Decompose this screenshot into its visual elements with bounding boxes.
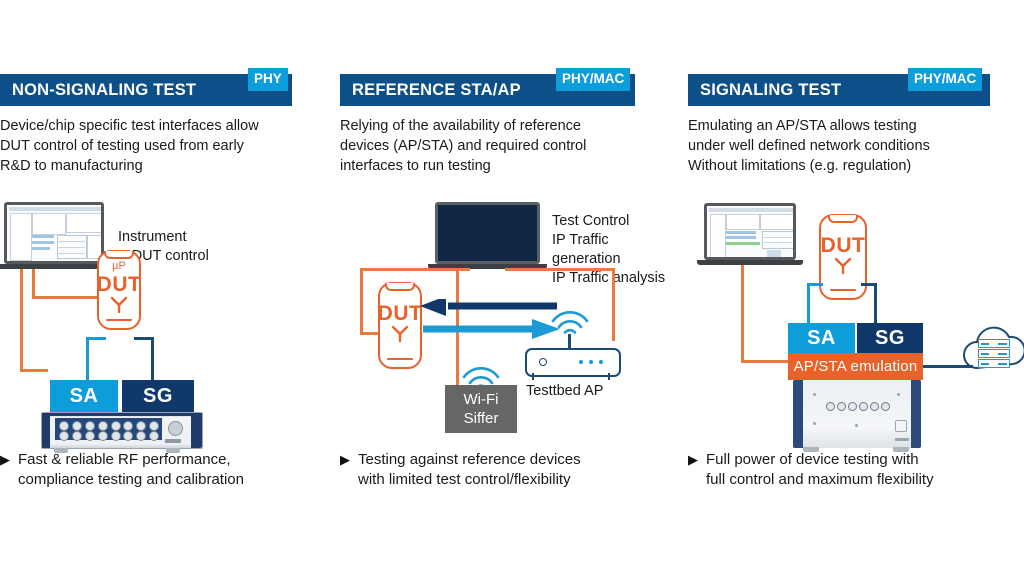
column-3-bullet-text: Full power of device testing with full c… xyxy=(706,450,934,490)
cable-phone-to-sg-vertical xyxy=(151,337,154,382)
laptop-screen xyxy=(704,203,796,260)
cable-laptop-to-emulation-vertical xyxy=(741,265,744,363)
cable-phone-to-sa-vertical xyxy=(807,283,810,325)
cable-phone-to-sg-horizontal xyxy=(861,283,876,286)
column-3-bullet: ▶ Full power of device testing with full… xyxy=(688,450,1018,490)
block-ap-sta-emulation: AP/STA emulation xyxy=(788,353,923,380)
traffic-arrows xyxy=(420,299,560,347)
laptop-base xyxy=(697,260,803,265)
column-3-description: Emulating an AP/STA allows testing under… xyxy=(688,116,998,176)
signaling-tester-chassis xyxy=(793,380,921,448)
router-led-3 xyxy=(599,360,603,364)
cable-laptop-to-ap-vertical xyxy=(612,268,615,341)
block-signal-analyzer: SA xyxy=(788,323,855,353)
cable-laptop-to-dut-vertical xyxy=(360,268,363,334)
dut-phone: DUT xyxy=(378,282,422,369)
router-led-2 xyxy=(589,360,593,364)
chassis-indicator xyxy=(895,438,909,441)
instrument-knob xyxy=(168,421,183,436)
dut-label: DUT xyxy=(821,235,866,256)
column-1-bullet-text: Fast & reliable RF performance, complian… xyxy=(18,450,244,490)
router-led-1 xyxy=(579,360,583,364)
cable-phone-to-sa-horizontal xyxy=(807,283,823,286)
column-2-description: Relying of the availability of reference… xyxy=(340,116,650,176)
column-2-diagram: Test Control IP Traffic generation IP Tr… xyxy=(340,195,676,445)
block-signal-analyzer: SA xyxy=(50,380,118,412)
block-emulation-label: AP/STA emulation xyxy=(794,358,918,375)
antenna-icon xyxy=(390,325,410,348)
chassis-body xyxy=(793,380,921,448)
cable-laptop-to-emulation-horizontal xyxy=(741,360,789,363)
block-signal-generator: SG xyxy=(857,323,923,353)
cable-laptop-to-dut-top xyxy=(360,268,470,271)
bullet-arrow-icon: ▶ xyxy=(688,450,698,470)
cable-laptop-to-phone-vertical xyxy=(32,265,35,299)
chassis-side-left xyxy=(793,380,803,448)
phone-notch xyxy=(104,251,134,259)
laptop-screen xyxy=(4,202,104,264)
phone-notch xyxy=(385,283,415,291)
laptop-test-control xyxy=(435,202,540,269)
bullet-arrow-icon: ▶ xyxy=(0,450,10,470)
laptop-screen-content xyxy=(7,205,101,261)
column-non-signaling: NON-SIGNALING TEST PHY Device/chip speci… xyxy=(0,0,330,576)
phone-home-indicator xyxy=(106,319,132,321)
column-3-badge: PHY/MAC xyxy=(908,68,982,91)
column-3-title: SIGNALING TEST xyxy=(688,81,841,100)
instrument-indicator xyxy=(165,439,181,443)
block-sa-label: SA xyxy=(70,385,99,408)
laptop-base xyxy=(0,264,111,269)
microprocessor-label: µP xyxy=(112,261,126,272)
wifi-sniffer-box: Wi-Fi Siffer xyxy=(445,385,517,433)
cable-laptop-to-phone-horizontal xyxy=(32,296,99,299)
bullet-arrow-icon: ▶ xyxy=(340,450,350,470)
instrument-right-band xyxy=(191,413,202,448)
block-signal-generator: SG xyxy=(122,380,194,412)
column-3-diagram: DUT SA SG xyxy=(688,195,1024,445)
wifi-signal-icon-sniffer xyxy=(460,355,502,389)
block-sa-label: SA xyxy=(807,327,836,350)
column-2-bullet-text: Testing against reference devices with l… xyxy=(358,450,581,490)
cable-phone-to-sg-vertical xyxy=(874,283,877,325)
instrument-body xyxy=(41,412,203,449)
laptop-instrument-control xyxy=(4,202,104,269)
cable-phone-to-sa-horizontal xyxy=(86,337,106,340)
column-1-badge: PHY xyxy=(248,68,288,91)
column-reference-sta-ap: REFERENCE STA/AP PHY/MAC Relying of the … xyxy=(340,0,670,576)
antenna-icon xyxy=(833,257,853,280)
column-signaling: SIGNALING TEST PHY/MAC Emulating an AP/S… xyxy=(688,0,1024,576)
phone-notch xyxy=(828,215,858,223)
dut-phone: DUT xyxy=(819,214,867,300)
column-1-diagram: Instrument & DUT control µP DUT xyxy=(0,195,336,445)
block-sg-label: SG xyxy=(143,385,173,408)
cable-phone-to-sa-vertical xyxy=(86,337,89,382)
slide-root: NON-SIGNALING TEST PHY Device/chip speci… xyxy=(0,0,1024,576)
block-sg-label: SG xyxy=(875,327,905,350)
laptop-screen xyxy=(435,202,540,264)
laptop-screen-content xyxy=(707,206,793,257)
column-1-title: NON-SIGNALING TEST xyxy=(0,81,196,100)
column-2-badge: PHY/MAC xyxy=(556,68,630,91)
column-1-bullet: ▶ Fast & reliable RF performance, compli… xyxy=(0,450,330,490)
cable-laptop-to-ap-top xyxy=(505,268,615,271)
laptop-control xyxy=(704,203,796,265)
phone-home-indicator xyxy=(387,358,413,360)
rf-instrument xyxy=(41,412,203,449)
chassis-side-right xyxy=(911,380,921,448)
wifi-sniffer-label: Wi-Fi Siffer xyxy=(464,390,499,428)
instrument-top-band xyxy=(42,413,202,416)
dut-phone: µP DUT xyxy=(97,250,141,330)
cable-laptop-to-instrument-vertical xyxy=(20,265,23,372)
column-2-bullet: ▶ Testing against reference devices with… xyxy=(340,450,670,490)
cable-laptop-to-instrument-horizontal xyxy=(20,369,48,372)
instrument-connector-panel xyxy=(55,418,162,440)
chassis-logo xyxy=(895,420,907,432)
antenna-icon xyxy=(109,296,129,319)
testbed-ap-label: Testtbed AP xyxy=(526,383,603,399)
wifi-signal-icon-ap xyxy=(549,299,591,335)
column-1-description: Device/chip specific test interfaces all… xyxy=(0,116,310,176)
router-status-eye xyxy=(539,358,547,366)
cable-phone-to-sg-horizontal xyxy=(134,337,153,340)
dut-label: DUT xyxy=(97,274,142,295)
instrument-left-band xyxy=(42,413,50,448)
router-leg-left xyxy=(532,373,534,380)
router-leg-right xyxy=(608,373,610,380)
column-2-title: REFERENCE STA/AP xyxy=(340,81,521,100)
dut-label: DUT xyxy=(378,303,423,324)
testbed-ap-router xyxy=(525,348,621,377)
phone-home-indicator xyxy=(830,289,856,291)
